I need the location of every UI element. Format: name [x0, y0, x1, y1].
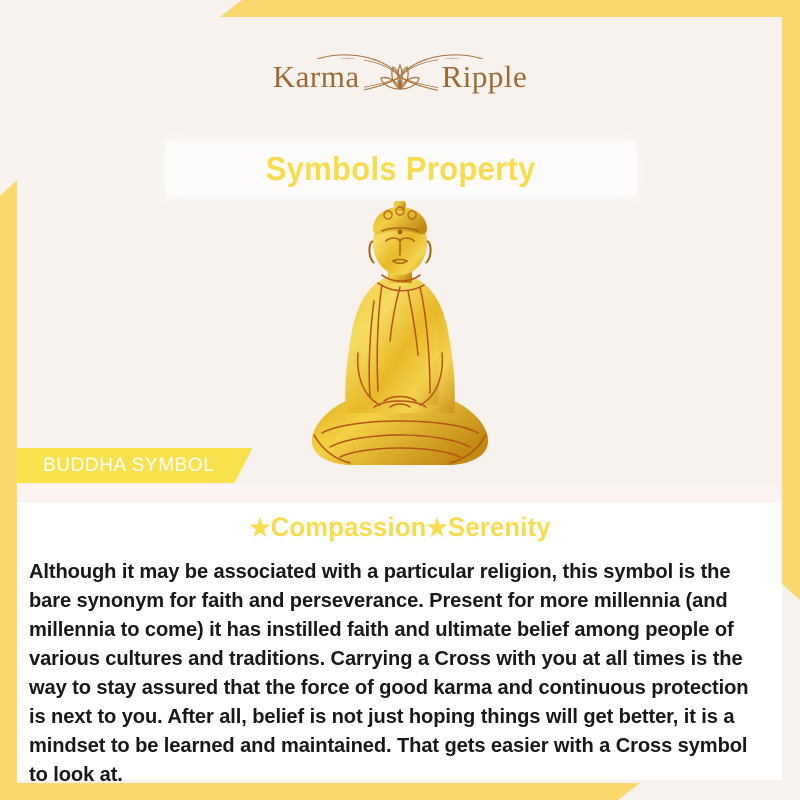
- star-icon-2: ★: [427, 514, 448, 542]
- product-info-graphic: Karma Ripple Symbols Property: [0, 0, 800, 800]
- subtitle-word-serenity: Serenity: [448, 512, 551, 542]
- star-icon: ★: [249, 514, 270, 542]
- title-band: Symbols Property: [166, 141, 636, 197]
- ribbon-label: BUDDHA SYMBOL: [43, 455, 214, 477]
- sheet-top-tint: [17, 485, 782, 503]
- golden-buddha-statue-icon: [300, 201, 500, 486]
- hero-image: [0, 196, 800, 486]
- subtitle: ★Compassion★Serenity: [20, 512, 780, 543]
- decorative-bar-top: [220, 0, 800, 17]
- brand-word-right: Ripple: [438, 59, 532, 95]
- page-title: Symbols Property: [266, 150, 536, 188]
- body-paragraph: Although it may be associated with a par…: [29, 557, 756, 789]
- brand-word-left: Karma: [269, 59, 364, 95]
- subtitle-word-compassion: Compassion: [271, 512, 427, 542]
- brand-logo: Karma Ripple: [0, 42, 800, 112]
- section-ribbon: BUDDHA SYMBOL: [17, 448, 252, 483]
